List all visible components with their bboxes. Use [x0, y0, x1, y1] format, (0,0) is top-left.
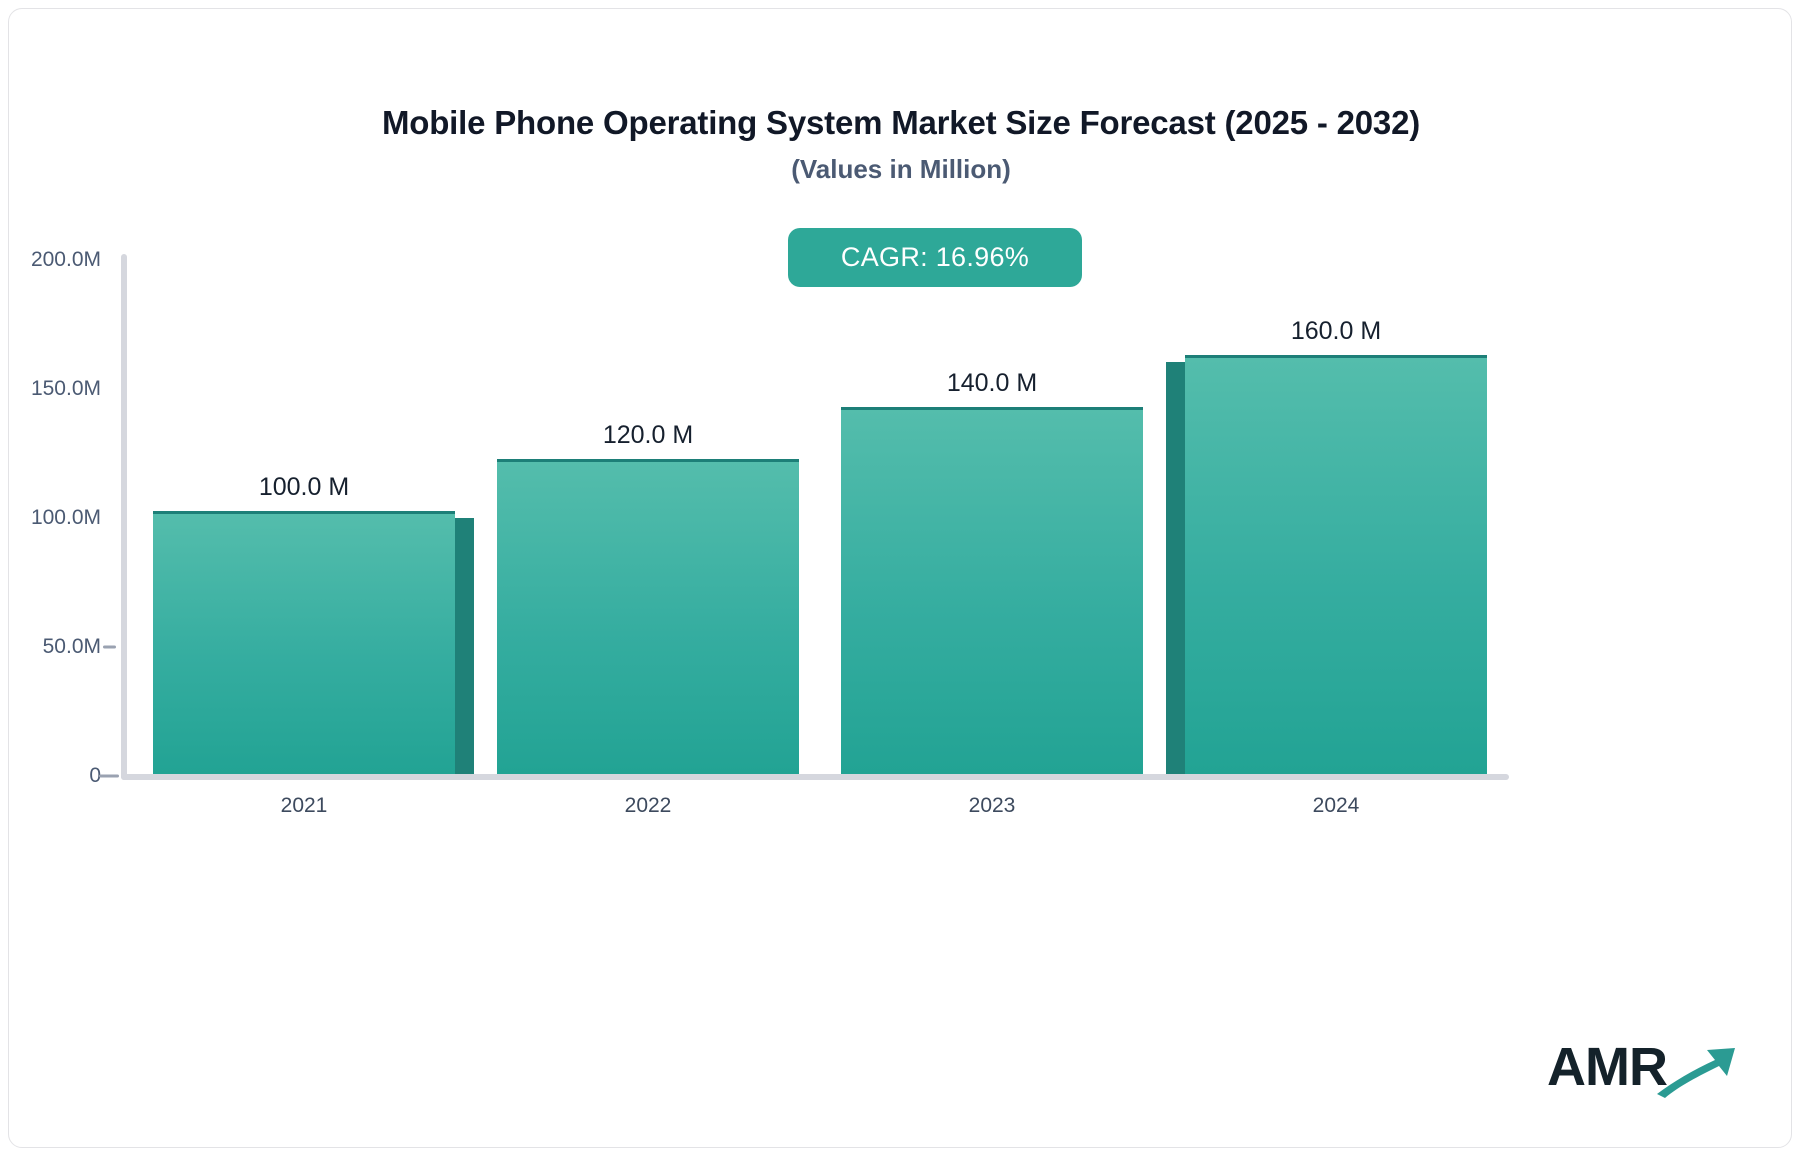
bar-series: 100.0 M 2021 120.0 M 2022 140.0 M 2023 1…	[127, 254, 1509, 774]
bar-side-2021	[455, 518, 474, 774]
y-tick-mark-50	[103, 646, 116, 649]
y-tick-label-200: 200.0M	[0, 248, 101, 272]
bar-value-2021: 100.0 M	[153, 473, 455, 502]
bar-value-2024: 160.0 M	[1185, 317, 1487, 346]
x-axis-line	[121, 774, 1509, 780]
bar-group-2023[interactable]: 140.0 M	[841, 254, 1143, 774]
x-tick-label-2022: 2022	[497, 794, 799, 818]
y-tick-label-100: 100.0M	[0, 506, 101, 530]
bar-group-2024[interactable]: 160.0 M	[1185, 254, 1487, 774]
trend-up-arrow-icon	[1653, 1042, 1739, 1105]
plot-area: 200.0M 150.0M 100.0M 50.0M 0 100.0 M 202…	[121, 254, 1509, 789]
bar-2023[interactable]	[841, 407, 1143, 774]
bar-2024[interactable]	[1185, 355, 1487, 774]
x-tick-label-2024: 2024	[1185, 794, 1487, 818]
amr-logo-text: AMR	[1547, 1040, 1667, 1094]
x-tick-label-2021: 2021	[153, 794, 455, 818]
bar-group-2022[interactable]: 120.0 M	[497, 254, 799, 774]
chart-card: Mobile Phone Operating System Market Siz…	[8, 8, 1792, 1148]
chart-title: Mobile Phone Operating System Market Siz…	[9, 104, 1793, 142]
bar-2021[interactable]	[153, 511, 455, 774]
bar-side-2024	[1166, 362, 1185, 774]
y-tick-label-0: 0	[0, 764, 101, 788]
bar-group-2021[interactable]: 100.0 M	[153, 254, 455, 774]
bar-2022[interactable]	[497, 459, 799, 774]
bar-value-2023: 140.0 M	[841, 369, 1143, 398]
y-tick-mark-0	[99, 775, 119, 778]
bar-value-2022: 120.0 M	[497, 421, 799, 450]
y-tick-label-150: 150.0M	[0, 377, 101, 401]
x-tick-label-2023: 2023	[841, 794, 1143, 818]
chart-subtitle: (Values in Million)	[9, 154, 1793, 185]
amr-logo: AMR	[1547, 1028, 1739, 1105]
y-tick-label-50: 50.0M	[0, 635, 101, 659]
